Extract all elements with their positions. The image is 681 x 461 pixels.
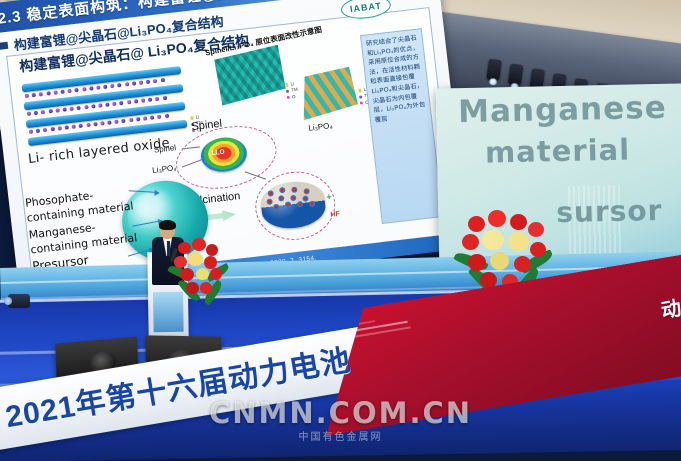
legend-spinel: Li TM O	[285, 81, 299, 101]
flower-arrangement-podium	[172, 238, 228, 304]
photo-canvas: 2.3 稳定表面构筑：构建富锂@尖晶石@Li₃PO₄复合结构 构建富锂@尖晶石@…	[0, 0, 681, 461]
projection-screen-left: 2.3 稳定表面构筑：构建富锂@尖晶石@Li₃PO₄复合结构 构建富锂@尖晶石@…	[0, 0, 469, 302]
presentation-slide: 2.3 稳定表面构筑：构建富锂@尖晶石@Li₃PO₄复合结构 构建富锂@尖晶石@…	[0, 0, 469, 298]
speaker-hair	[159, 220, 176, 230]
plus-icon: +	[326, 192, 332, 203]
bullet-square-icon	[0, 41, 8, 49]
stage-light-fixture	[4, 292, 40, 318]
speaker-tie	[167, 241, 171, 256]
label-hf: HF	[330, 211, 340, 219]
led-text-manganese: Manganese	[458, 90, 667, 130]
banner-logo-forum-title: 动力电池材料产业发展国际论坛	[659, 250, 681, 324]
led-text-material: material	[485, 133, 631, 170]
watermark-subtext: 中国有色金属网	[0, 426, 681, 444]
led-text-sursor: sursor	[556, 194, 663, 229]
